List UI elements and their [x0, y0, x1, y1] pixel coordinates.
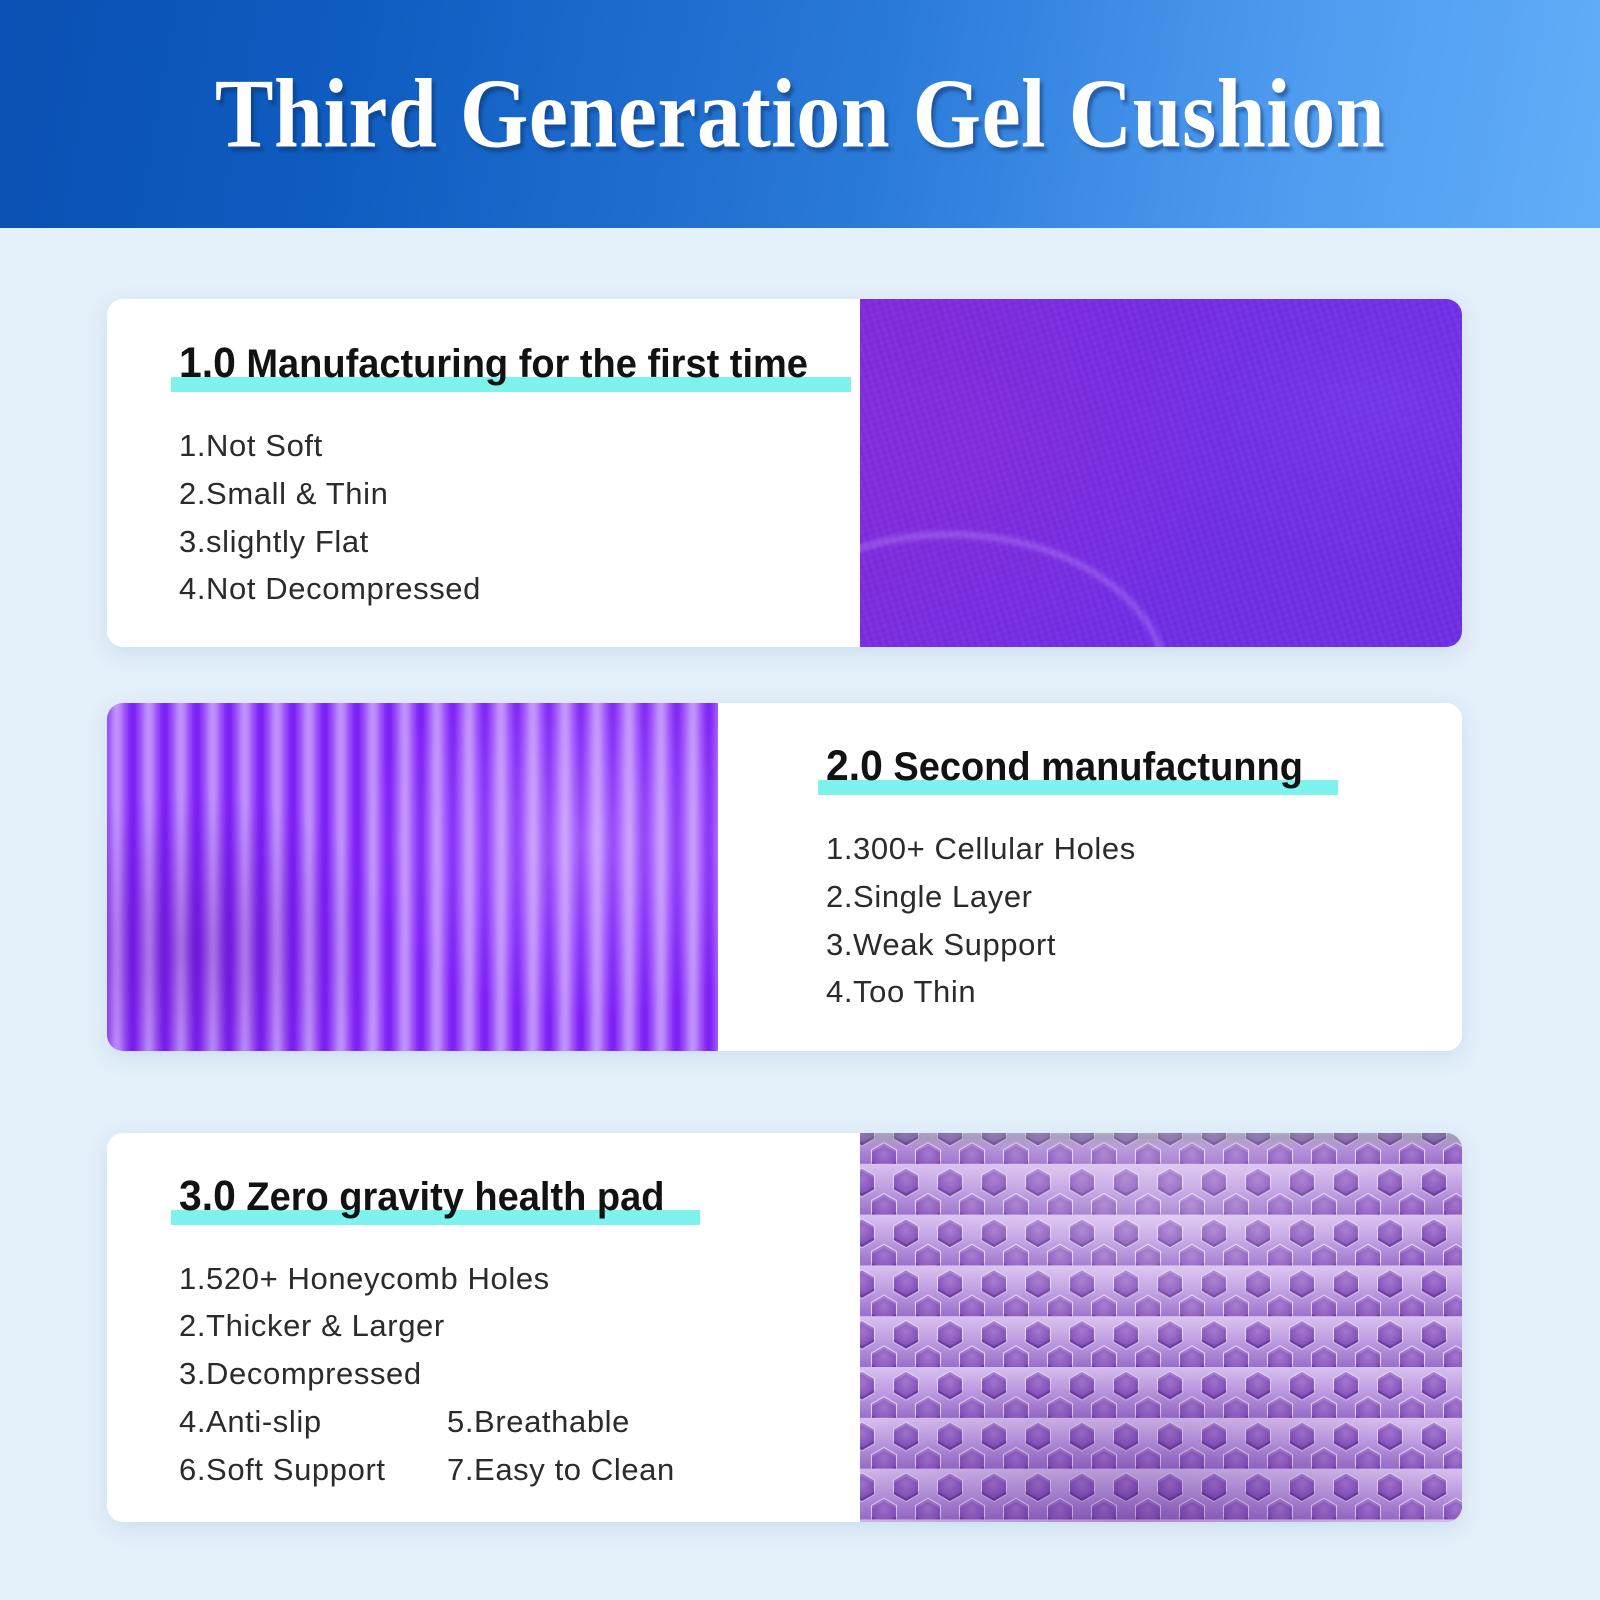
card-2-heading: 2.0 Second manufactunng — [826, 742, 1328, 795]
list-item: 2.Single Layer — [826, 873, 1462, 921]
list-item-row: 4.Anti-slip 5.Breathable — [179, 1398, 860, 1446]
list-item: 2.Thicker & Larger — [179, 1302, 860, 1350]
card-1-bullet-list: 1.Not Soft 2.Small & Thin 3.slightly Fla… — [179, 422, 860, 613]
card-3-bullet-list: 1.520+ Honeycomb Holes 2.Thicker & Large… — [179, 1255, 860, 1494]
feature-card-generation-3: 3.0 Zero gravity health pad 1.520+ Honey… — [107, 1133, 1462, 1522]
list-item-row: 6.Soft Support 7.Easy to Clean — [179, 1446, 860, 1494]
card-2-text-panel: 2.0 Second manufactunng 1.300+ Cellular … — [718, 703, 1462, 1051]
feature-card-generation-2: 2.0 Second manufactunng 1.300+ Cellular … — [107, 703, 1462, 1051]
list-item: 3.slightly Flat — [179, 518, 860, 566]
list-item: 1.520+ Honeycomb Holes — [179, 1255, 860, 1303]
card-2-heading-label: Second manufactunng — [893, 745, 1303, 789]
list-item: 3.Decompressed — [179, 1350, 860, 1398]
list-item: 3.Weak Support — [826, 921, 1462, 969]
card-1-heading-number: 1.0 — [179, 339, 236, 387]
card-2-bullet-list: 1.300+ Cellular Holes 2.Single Layer 3.W… — [826, 825, 1462, 1016]
honeycomb-gel-texture — [860, 1133, 1462, 1522]
card-3-heading-text: 3.0 Zero gravity health pad — [179, 1172, 664, 1225]
honeycomb-top-edge — [860, 1133, 1462, 1147]
card-1-heading: 1.0 Manufacturing for the first time — [179, 339, 841, 392]
list-item: 1.300+ Cellular Holes — [826, 825, 1462, 873]
card-3-text-panel: 3.0 Zero gravity health pad 1.520+ Honey… — [107, 1133, 860, 1522]
list-item: 4.Not Decompressed — [179, 565, 860, 613]
card-3-heading-number: 3.0 — [179, 1172, 236, 1220]
list-item: 5.Breathable — [447, 1398, 630, 1446]
violet-gel-texture — [860, 299, 1462, 647]
card-1-text-panel: 1.0 Manufacturing for the first time 1.N… — [107, 299, 860, 647]
honeycomb-svg — [860, 1133, 1462, 1522]
gel-cushion-blurred-violet-photo — [860, 299, 1462, 647]
gel-cushion-cellular-holes-photo — [107, 703, 718, 1051]
feature-card-generation-1: 1.0 Manufacturing for the first time 1.N… — [107, 299, 1462, 647]
list-item: 2.Small & Thin — [179, 470, 860, 518]
list-item: 6.Soft Support — [179, 1446, 447, 1494]
list-item: 7.Easy to Clean — [447, 1446, 675, 1494]
card-2-heading-number: 2.0 — [826, 742, 883, 790]
gel-cushion-honeycomb-photo — [860, 1133, 1462, 1522]
card-3-heading: 3.0 Zero gravity health pad — [179, 1172, 690, 1225]
list-item: 4.Too Thin — [826, 968, 1462, 1016]
page-header: Third Generation Gel Cushion — [0, 0, 1600, 228]
card-1-heading-label: Manufacturing for the first time — [246, 342, 808, 386]
honeycomb-hex-grid — [860, 1133, 1462, 1522]
card-1-heading-text: 1.0 Manufacturing for the first time — [179, 339, 808, 392]
card-2-heading-text: 2.0 Second manufactunng — [826, 742, 1303, 795]
card-3-heading-label: Zero gravity health pad — [246, 1175, 664, 1219]
list-item: 4.Anti-slip — [179, 1398, 447, 1446]
cellular-gel-texture — [107, 703, 718, 1051]
page-title: Third Generation Gel Cushion — [215, 57, 1385, 170]
list-item: 1.Not Soft — [179, 422, 860, 470]
